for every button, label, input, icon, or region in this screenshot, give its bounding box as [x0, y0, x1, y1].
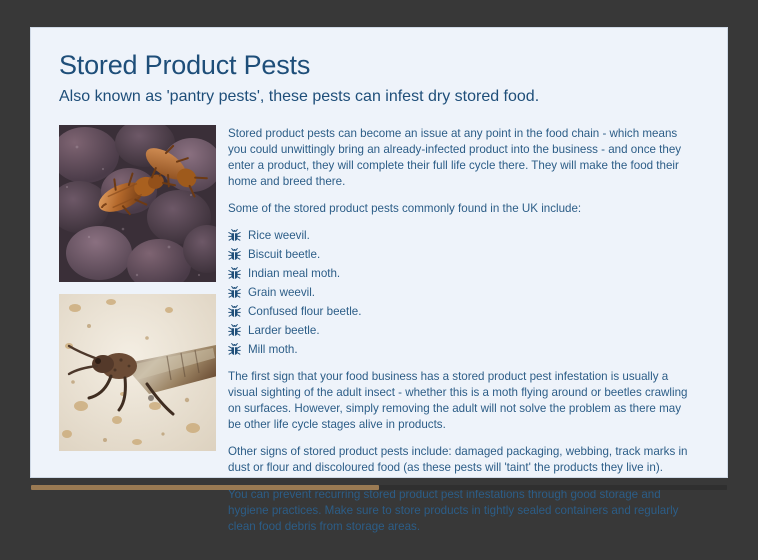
pest-list: Rice weevil. Biscuit beetle. Indian meal… [228, 228, 697, 358]
image-column [59, 125, 216, 535]
bug-icon [228, 248, 241, 261]
bug-icon [228, 343, 241, 356]
list-item: Larder beetle. [228, 323, 697, 339]
bug-icon [228, 305, 241, 318]
moth-on-flour-photo [59, 294, 216, 451]
progress-bar-fill [31, 485, 379, 490]
list-item: Indian meal moth. [228, 266, 697, 282]
list-item-label: Grain weevil. [248, 285, 315, 301]
list-item-label: Biscuit beetle. [248, 247, 320, 263]
page-subtitle: Also known as 'pantry pests', these pest… [59, 87, 697, 108]
list-item: Mill moth. [228, 342, 697, 358]
paragraph-first-sign: The first sign that your food business h… [228, 369, 697, 433]
list-item-label: Confused flour beetle. [248, 304, 361, 320]
bug-icon [228, 267, 241, 280]
beetles-on-grain-photo [59, 125, 216, 282]
bug-icon [228, 286, 241, 299]
player-footer: Page 9 of 18 50% Completed Prev Next [0, 492, 758, 560]
list-item-label: Indian meal moth. [248, 266, 340, 282]
progress-bar [31, 485, 727, 490]
bug-icon [228, 229, 241, 242]
paragraph-list-lead: Some of the stored product pests commonl… [228, 201, 697, 217]
list-item: Confused flour beetle. [228, 304, 697, 320]
course-player: Stored Product Pests Also known as 'pant… [0, 0, 758, 560]
list-item-label: Larder beetle. [248, 323, 320, 339]
list-item: Biscuit beetle. [228, 247, 697, 263]
text-column: Stored product pests can become an issue… [228, 125, 697, 535]
bug-icon [228, 324, 241, 337]
list-item: Rice weevil. [228, 228, 697, 244]
paragraph-other-signs: Other signs of stored product pests incl… [228, 444, 697, 476]
slide-body: Stored product pests can become an issue… [59, 125, 697, 535]
list-item: Grain weevil. [228, 285, 697, 301]
page-title: Stored Product Pests [59, 50, 697, 81]
slide-card: Stored Product Pests Also known as 'pant… [30, 27, 728, 478]
list-item-label: Mill moth. [248, 342, 298, 358]
list-item-label: Rice weevil. [248, 228, 310, 244]
paragraph-intro: Stored product pests can become an issue… [228, 126, 697, 190]
